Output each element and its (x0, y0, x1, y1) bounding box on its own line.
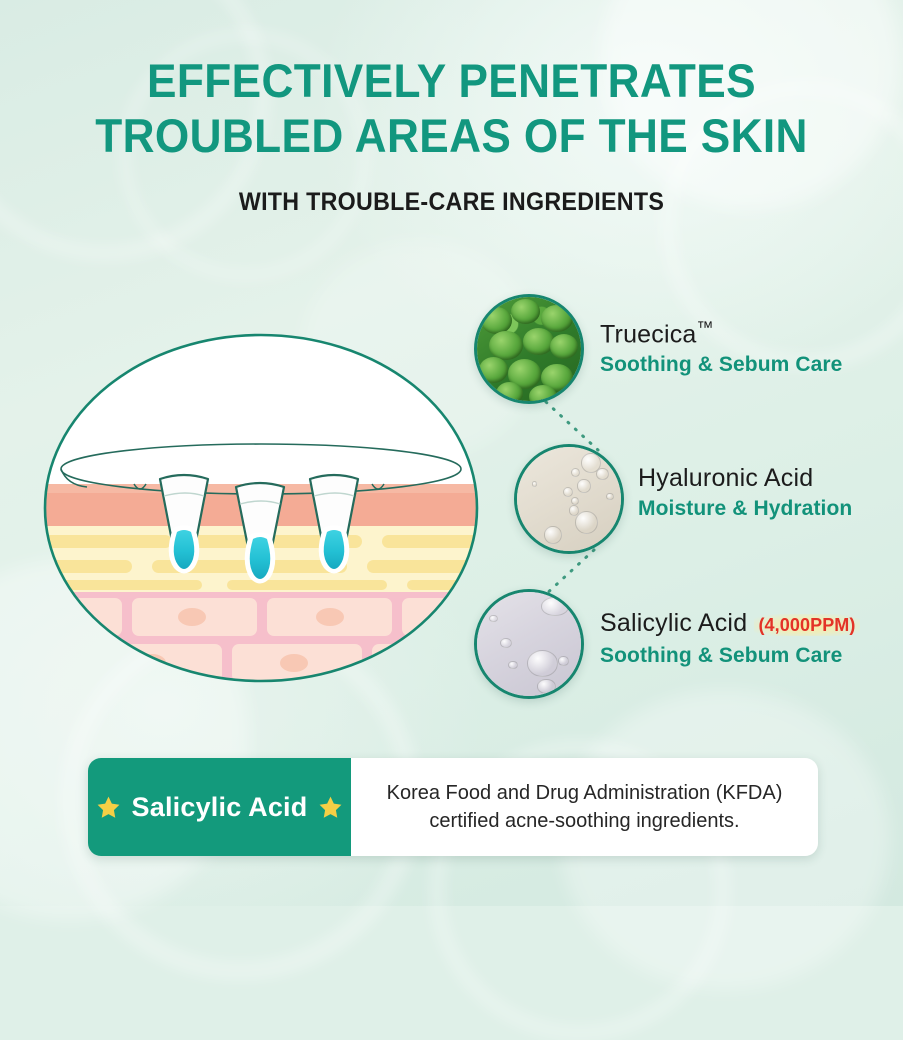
certification-badge: Salicylic Acid (88, 758, 351, 856)
certification-text: Korea Food and Drug Administration (KFDA… (351, 758, 818, 856)
ingredient-benefit: Soothing & Sebum Care (600, 353, 842, 377)
trademark-symbol: ™ (697, 318, 714, 337)
ingredient-swatch-salicylic-acid[interactable] (474, 589, 584, 699)
ingredient-benefit: Moisture & Hydration (638, 497, 852, 521)
droplet-1 (174, 530, 195, 569)
certification-banner: Salicylic Acid Korea Food and Drug Admin… (88, 758, 818, 856)
ingredient-label-salicylic-acid: Salicylic Acid (4,000PPM) Soothing & Seb… (600, 608, 860, 668)
heading-block: EFFECTIVELY PENETRATES TROUBLED AREAS OF… (0, 0, 903, 217)
subheading: WITH TROUBLE-CARE INGREDIENTS (32, 188, 872, 217)
ingredient-swatch-hyaluronic-acid[interactable] (514, 444, 624, 554)
cert-line-1: Korea Food and Drug Administration (KFDA… (387, 779, 783, 807)
badge-label: Salicylic Acid (132, 792, 308, 823)
ingredient-label-hyaluronic-acid: Hyaluronic Acid Moisture & Hydration (638, 463, 852, 521)
ingredient-label-truecica: Truecica™ Soothing & Sebum Care (600, 313, 842, 377)
ingredient-name: Truecica™ (600, 313, 842, 349)
star-icon-right (318, 795, 343, 820)
concentration-badge: (4,000PPM) (754, 614, 859, 636)
star-icon-left (96, 795, 121, 820)
pore-group (160, 475, 358, 584)
ingredient-swatch-truecica[interactable] (474, 294, 584, 404)
ingredient-benefit: Soothing & Sebum Care (600, 644, 860, 668)
droplet-2 (250, 537, 271, 579)
droplet-3 (324, 530, 345, 569)
headline-line-2: TROUBLED AREAS OF THE SKIN (27, 108, 876, 163)
ingredient-name: Salicylic Acid (4,000PPM) (600, 608, 860, 640)
ingredient-name: Hyaluronic Acid (638, 463, 852, 493)
headline-line-1: EFFECTIVELY PENETRATES (27, 53, 876, 108)
bubble-gel-icon (517, 447, 621, 551)
centella-leaves-icon (477, 297, 581, 401)
cert-line-2: certified acne-soothing ingredients. (429, 807, 739, 835)
skin-cross-section-diagram (42, 332, 480, 684)
clear-gel-icon (477, 592, 581, 696)
